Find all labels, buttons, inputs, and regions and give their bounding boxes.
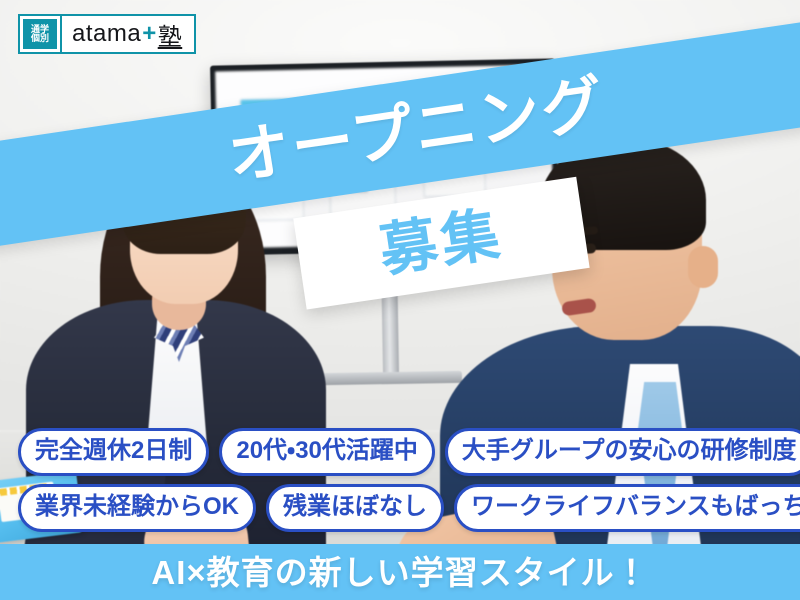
feature-tag: 業界未経験からOK [18, 484, 256, 532]
logo-plus-icon: + [141, 20, 158, 48]
logo-badge-line2: 個別 [31, 34, 49, 43]
feature-tag: 20代・30代活躍中 [219, 428, 435, 476]
feature-tag-row-1: 完全週休2日制 20代・30代活躍中 大手グループの安心の研修制度 [18, 428, 782, 476]
logo-word-main: atama [72, 20, 141, 48]
feature-tag: 完全週休2日制 [18, 428, 209, 476]
feature-tag: 残業ほぼなし [266, 484, 444, 532]
logo-badge: 通学 個別 [23, 19, 57, 49]
feature-tag-row-2: 業界未経験からOK 残業ほぼなし ワークライフバランスもばっちり [18, 484, 782, 532]
feature-tag-group: 完全週休2日制 20代・30代活躍中 大手グループの安心の研修制度 業界未経験か… [0, 428, 800, 540]
recruitment-ad-banner: オープニング 募集 通学 個別 atama + 塾 完全週休2日制 20代・30… [0, 0, 800, 600]
tagline-text: AI×教育の新しい学習スタイル！ [151, 556, 648, 589]
logo-word-juku: 塾 [158, 17, 183, 52]
feature-tag: 大手グループの安心の研修制度 [445, 428, 800, 476]
monitor-stand-foot [322, 371, 462, 385]
headline-text-recruiting: 募集 [376, 205, 507, 280]
logo-wordmark: atama + 塾 [60, 16, 194, 52]
brand-logo[interactable]: 通学 個別 atama + 塾 [18, 14, 196, 54]
feature-tag: ワークライフバランスもばっちり [454, 484, 800, 532]
tagline-bar: AI×教育の新しい学習スタイル！ [0, 544, 800, 600]
